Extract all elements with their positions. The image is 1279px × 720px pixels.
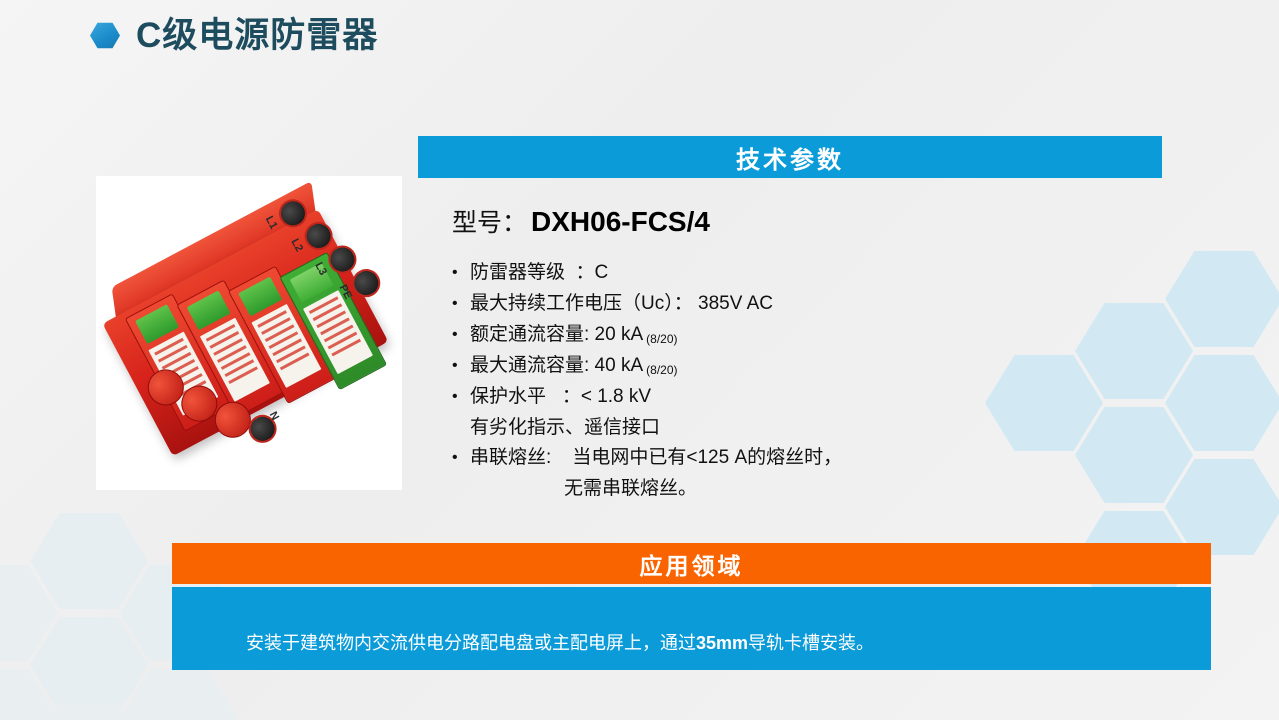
hex-watermark — [1165, 352, 1279, 454]
page-title: C级电源防雷器 — [136, 18, 378, 53]
spec-subscript: (8/20) — [643, 355, 677, 385]
spec-subscript: (8/20) — [643, 324, 677, 354]
spec-entry: • 最大通流容量: 40 kA(8/20) — [452, 351, 1172, 381]
tech-params-banner: 技术参数 — [418, 136, 1162, 178]
spec-entry: • 最大持续工作电压（Uc）： 385V AC — [452, 289, 1172, 319]
hex-watermark — [30, 510, 148, 612]
application-banner: 应用领域 — [172, 543, 1211, 584]
application-text-suffix: 导轨卡槽安装。 — [748, 633, 874, 653]
spec-entry: • 防雷器等级 ：C — [452, 258, 1172, 288]
bullet-icon: • — [452, 443, 470, 473]
spec-text-secondary: 有劣化指示、遥信接口 — [452, 413, 1172, 443]
bullet-icon: • — [452, 382, 470, 412]
application-text-prefix: 安装于建筑物内交流供电分路配电盘或主配电屏上，通过 — [246, 633, 696, 653]
spec-text: 额定通流容量: 20 kA — [470, 320, 643, 350]
model-line: 型号： DXH06-FCS/4 — [452, 203, 710, 239]
hex-watermark — [1165, 248, 1279, 350]
spec-text: 保护水平 ：< 1.8 kV — [470, 382, 651, 412]
bullet-icon: • — [452, 289, 470, 319]
hex-watermark — [0, 666, 58, 720]
application-title: 应用领域 — [640, 547, 744, 581]
hex-watermark — [0, 562, 58, 664]
spec-text: 串联熔丝: 当电网中已有<125 A的熔丝时， — [470, 443, 842, 473]
hexagon-icon — [90, 22, 120, 49]
model-label: 型号： — [452, 203, 527, 239]
model-value: DXH06-FCS/4 — [531, 206, 710, 238]
spec-text: 防雷器等级 ：C — [470, 258, 608, 288]
spec-text: 最大持续工作电压（Uc）： 385V AC — [470, 289, 773, 319]
bullet-icon: • — [452, 320, 470, 350]
spec-text-secondary: 无需串联熔丝。 — [452, 474, 1172, 504]
hex-watermark — [30, 614, 148, 716]
product-photo: L1 L2 L3 PE N — [96, 176, 402, 490]
bullet-icon: • — [452, 351, 470, 381]
terminal-label-n: N — [267, 410, 281, 423]
tech-params-title: 技术参数 — [736, 140, 844, 175]
application-body: 安装于建筑物内交流供电分路配电盘或主配电屏上，通过35mm导轨卡槽安装。 — [172, 587, 1211, 670]
spec-entry: • 保护水平 ：< 1.8 kV 有劣化指示、遥信接口 — [452, 382, 1172, 443]
spec-text: 最大通流容量: 40 kA — [470, 351, 643, 381]
application-text-highlight: 35mm — [696, 633, 748, 653]
page-header: C级电源防雷器 — [90, 18, 378, 53]
slide-canvas: C级电源防雷器 — [0, 0, 1279, 720]
spec-entry: • 串联熔丝: 当电网中已有<125 A的熔丝时， 无需串联熔丝。 — [452, 443, 1172, 504]
bullet-icon: • — [452, 258, 470, 288]
hex-watermark — [30, 700, 148, 720]
spec-list: • 防雷器等级 ：C • 最大持续工作电压（Uc）： 385V AC • 额定通… — [452, 258, 1172, 504]
spec-entry: • 额定通流容量: 20 kA(8/20) — [452, 320, 1172, 350]
spd-illustration: L1 L2 L3 PE N — [96, 182, 402, 485]
